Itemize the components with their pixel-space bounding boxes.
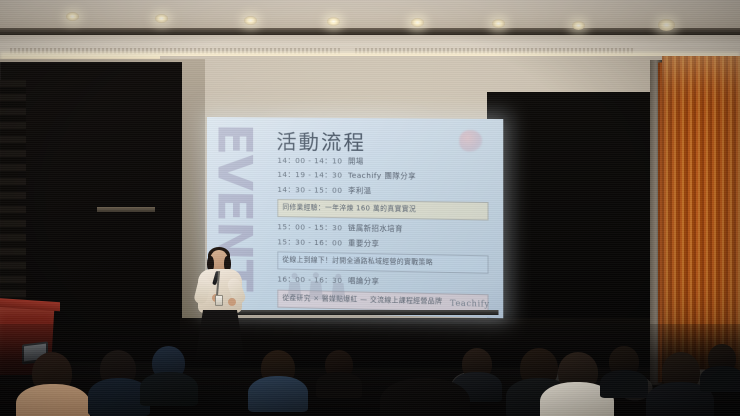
ceiling-downlight <box>66 12 79 21</box>
audience-shoulders <box>140 372 198 406</box>
agenda-row: 15：00 - 15：30 链属新招水培育 <box>277 223 488 237</box>
agenda-text: 重要分享 <box>348 238 379 248</box>
ceiling-downlight <box>572 21 585 30</box>
wall-shelf-strip <box>97 207 155 212</box>
agenda-text: 開場 <box>348 156 364 165</box>
audience-member <box>248 350 308 408</box>
screen-bottom-rail <box>207 310 499 315</box>
photo-scene: EVENT 活動流程 14：00 - 14：10 開場 14：19 - 14：3… <box>0 0 740 416</box>
slide-decorative-blob <box>459 130 482 152</box>
agenda-row: 15：30 - 16：00 重要分享 <box>277 237 488 251</box>
audience-member-foreground <box>380 368 470 416</box>
name-badge <box>215 295 223 306</box>
agenda-time: 14：19 - 14：30 <box>277 170 342 180</box>
audience-shoulders <box>380 378 470 416</box>
agenda-text: Teachify 團隊分享 <box>348 171 416 181</box>
ceiling-downlight <box>658 19 675 31</box>
ceiling-downlight <box>244 16 257 25</box>
audience-member <box>700 344 740 386</box>
agenda-highlight-note: 同修業經驗：一年淬煉 160 萬的真實實況 <box>277 199 488 221</box>
agenda-text: 李利溫 <box>348 186 372 195</box>
agenda-time: 14：30 - 15：00 <box>277 185 342 195</box>
audience-member <box>316 350 362 394</box>
audience-shoulders <box>600 370 648 398</box>
agenda-time: 14：00 - 14：10 <box>277 156 342 166</box>
ceiling-downlight <box>155 14 168 23</box>
slide-people-illustration <box>285 270 352 302</box>
ceiling-downlight <box>492 19 505 28</box>
ceiling-downlight <box>411 18 424 27</box>
audience-shoulders <box>316 372 362 398</box>
agenda-text: 唱論分享 <box>348 276 379 286</box>
audience-member <box>140 346 198 402</box>
agenda-row: 14：30 - 15：00 李利溫 <box>277 185 488 198</box>
projection-screen: EVENT 活動流程 14：00 - 14：10 開場 14：19 - 14：3… <box>207 117 503 318</box>
ceiling-surface <box>0 0 740 30</box>
agenda-time: 15：30 - 16：00 <box>277 237 342 247</box>
audience-member <box>600 346 648 392</box>
audience-shoulders <box>700 366 740 392</box>
agenda-text: 链属新招水培育 <box>348 224 403 234</box>
ceiling-downlight <box>327 17 340 26</box>
audience-shoulders <box>248 376 308 412</box>
agenda-row: 14：19 - 14：30 Teachify 團隊分享 <box>277 170 488 183</box>
audience-shoulders <box>16 384 90 416</box>
agenda-row: 14：00 - 14：10 開場 <box>277 156 488 168</box>
presenter-hand <box>228 298 236 306</box>
agenda-time: 15：00 - 15：30 <box>277 223 342 233</box>
slide-title: 活動流程 <box>276 126 366 156</box>
mesh-acoustic-panel <box>0 80 26 310</box>
audience-member <box>16 352 90 416</box>
slide-brand-logo: Teachify <box>450 299 490 309</box>
